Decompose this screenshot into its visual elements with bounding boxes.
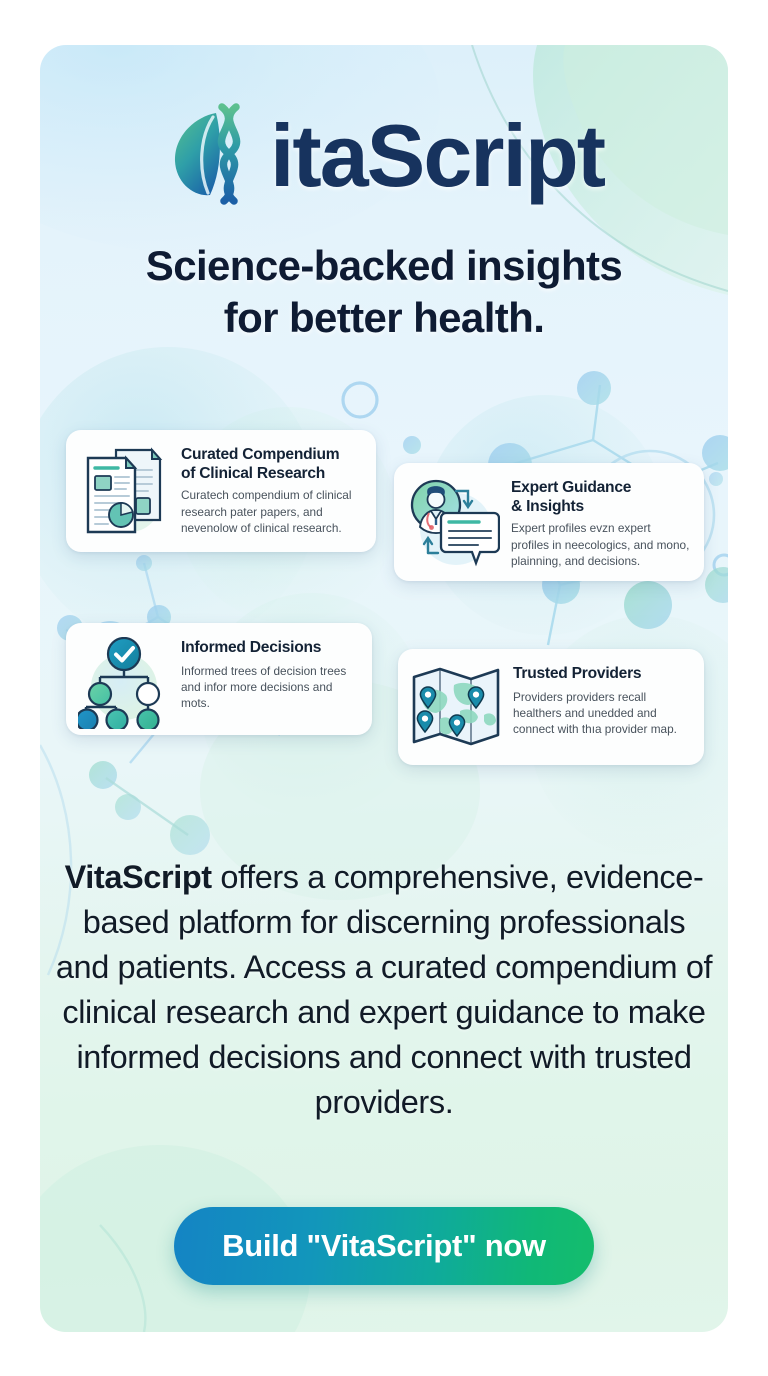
headline-line-2: for better health. (224, 294, 545, 341)
feature-card-trusted-providers[interactable]: Trusted Providers Providers providers re… (398, 649, 704, 765)
card-title: Curated Compendium of Clinical Research (181, 446, 362, 483)
doctor-chat-bubble-icon (406, 477, 500, 569)
body-paragraph-rest: offers a comprehensive, evidence-based p… (56, 859, 712, 1120)
card-description: Providers providers recall healthers and… (513, 689, 690, 738)
feature-card-expert-guidance[interactable]: Expert Guidance & Insights Expert profil… (394, 463, 704, 581)
cta-container: Build "VitaScript" now (40, 1207, 728, 1285)
leaf-dna-helix-icon (164, 97, 268, 215)
feature-card-informed-decisions[interactable]: Informed Decisions Informed trees of dec… (66, 623, 372, 735)
brand-wordmark: itaScript (270, 112, 604, 200)
card-title-line-1: Expert Guidance (511, 479, 631, 496)
card-description: Informed trees of decision trees and inf… (181, 663, 358, 712)
card-description: Curatech compendium of clinical research… (181, 487, 362, 536)
page-title: Science-backed insights for better healt… (40, 240, 728, 343)
documents-pie-chart-icon (78, 444, 170, 538)
card-title-line-1: Curated Compendium (181, 446, 339, 463)
card-title: Informed Decisions (181, 639, 358, 658)
card-title-line-2: & Insights (511, 498, 584, 515)
headline-line-1: Science-backed insights (146, 242, 622, 289)
card-description: Expert profiles evzn expert profiles in … (511, 520, 690, 569)
card-text: Expert Guidance & Insights Expert profil… (511, 477, 690, 569)
card-title: Trusted Providers (513, 665, 690, 684)
body-brand-lead: VitaScript (65, 859, 212, 895)
feature-card-curated-compendium[interactable]: Curated Compendium of Clinical Research … (66, 430, 376, 552)
brand-logo: itaScript (40, 97, 728, 215)
world-map-pins-icon (410, 663, 502, 751)
poster-canvas: itaScript Science-backed insights for be… (40, 45, 728, 1332)
card-title: Expert Guidance & Insights (511, 479, 690, 516)
card-title-line-2: of Clinical Research (181, 465, 325, 482)
decision-tree-check-icon (78, 637, 170, 729)
body-paragraph: VitaScript offers a comprehensive, evide… (54, 855, 714, 1125)
card-text: Informed Decisions Informed trees of dec… (181, 637, 358, 712)
card-text: Curated Compendium of Clinical Research … (181, 444, 362, 536)
build-vitascript-button[interactable]: Build "VitaScript" now (174, 1207, 594, 1285)
card-text: Trusted Providers Providers providers re… (513, 663, 690, 738)
